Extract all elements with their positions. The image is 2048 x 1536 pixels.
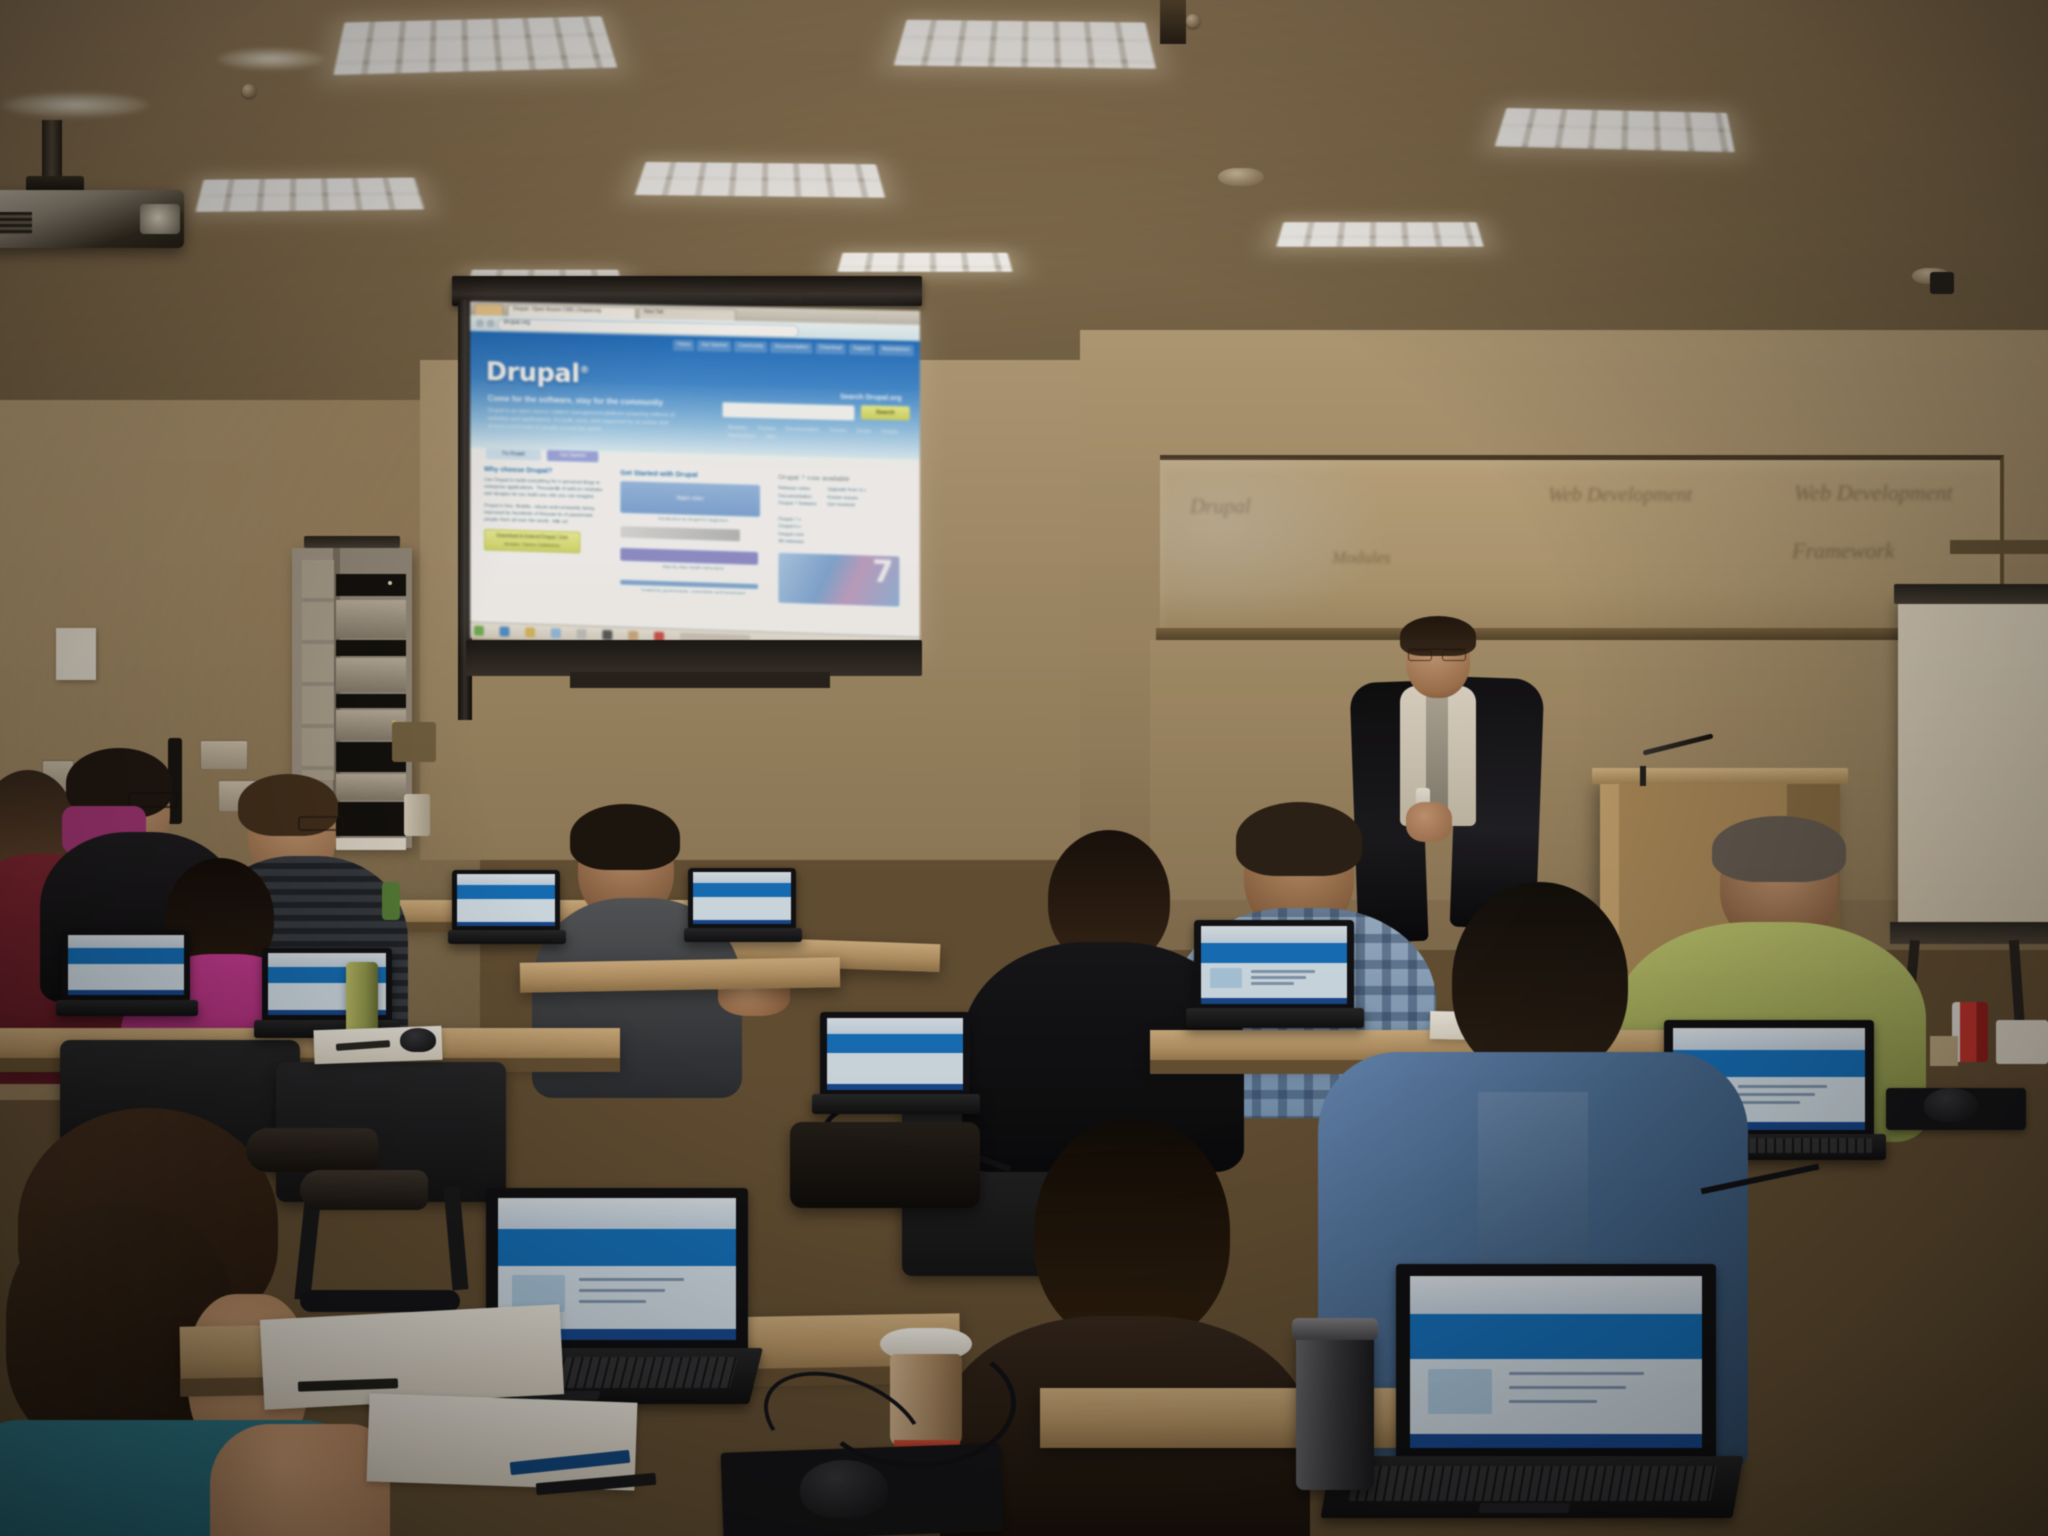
- search-input[interactable]: [722, 402, 855, 421]
- screen-text-line: [1509, 1400, 1597, 1403]
- shoe: [246, 1128, 378, 1172]
- attendee-hair: [1712, 816, 1846, 882]
- screen-titlebar: [1410, 1276, 1702, 1314]
- hand-sanitizer-dispenser: [404, 794, 430, 836]
- hero-secondary-button[interactable]: Get Started: [547, 450, 598, 462]
- ceiling-light-fixture: [635, 162, 886, 198]
- wall-fixture: [392, 722, 436, 762]
- nav-item-download[interactable]: Download: [816, 343, 847, 355]
- screen-content: [68, 964, 184, 990]
- shoe: [300, 1170, 428, 1210]
- ceiling-light-fixture: [1495, 108, 1735, 152]
- screen-text-line: [1509, 1372, 1643, 1375]
- screen-titlebar: [498, 1198, 736, 1229]
- ceiling-light-fixture: [195, 178, 424, 212]
- nav-item-marketplace[interactable]: Marketplace: [878, 344, 914, 356]
- content-column-drupal7: Drupal 7 now available Release notes Doc…: [778, 474, 909, 606]
- microphone-stem: [1640, 766, 1646, 786]
- address-bar-value: drupal.org: [504, 320, 531, 327]
- posted-notice: [56, 628, 96, 680]
- terminal-icon[interactable]: [602, 630, 612, 640]
- rack-slot: [336, 640, 406, 656]
- wall-rail: [1950, 540, 2048, 554]
- drupal-logo-text: Drupal: [486, 357, 580, 389]
- browser-tab-label: New Tab: [644, 309, 663, 315]
- column-paragraph: Drupal is free, flexible, robust and con…: [484, 503, 607, 528]
- screen-text-line: [1251, 982, 1295, 985]
- rack-slot: [336, 694, 406, 708]
- laptop-keyboard[interactable]: [1348, 1466, 1717, 1501]
- screen-navbar: [1201, 943, 1347, 963]
- ceiling-light-reflection: [0, 92, 150, 118]
- attendee-head: [1034, 1118, 1230, 1344]
- whiteboard-note: Framework: [1792, 538, 1895, 564]
- screen-navbar: [693, 883, 791, 897]
- screen-card: [1210, 968, 1242, 988]
- partner-logos-strip: [620, 526, 740, 542]
- screen-navbar: [457, 885, 555, 899]
- download-extend-button[interactable]: Download & Extend Drupal Core Modules, T…: [484, 529, 581, 554]
- smoke-detector-icon: [1218, 168, 1264, 186]
- computer-mouse[interactable]: [400, 1028, 436, 1052]
- ceiling-hanger-rod: [1160, 0, 1186, 44]
- ceiling-light-fixture: [894, 20, 1156, 69]
- hero-body: Drupal is an open source content managem…: [488, 407, 676, 436]
- screen-text-line: [1509, 1386, 1626, 1389]
- download-button-label: Download & Extend Drupal Core: [496, 533, 567, 541]
- screen-text-line: [579, 1289, 665, 1292]
- screen-footer: [68, 990, 184, 995]
- laptop[interactable]: [820, 1012, 970, 1112]
- screen-navbar: [498, 1229, 736, 1266]
- screen-titlebar: [1201, 926, 1347, 943]
- column-heading-main: Drupal 7: [778, 474, 805, 482]
- water-bottle-small-green[interactable]: [382, 882, 400, 920]
- screen-footer: [1410, 1434, 1702, 1448]
- rack-slot: [336, 574, 406, 596]
- whiteboard-note: Web Development: [1548, 484, 1692, 507]
- flip-chart-clamp: [1894, 584, 2048, 604]
- content-column-get-started: Get Started with Drupal Watch video Intr…: [620, 470, 766, 596]
- status-led-icon: [388, 581, 392, 585]
- quick-link[interactable]: Issues: [856, 428, 871, 434]
- paper-handout: [367, 1393, 638, 1490]
- screen-content: [827, 1053, 963, 1085]
- fire-sprinkler-icon: [242, 84, 256, 98]
- screen-footer: [457, 922, 555, 926]
- projection-screen-bottom-bar: [466, 640, 922, 676]
- table-mid-center: [520, 957, 840, 993]
- quick-link[interactable]: Forums: [829, 428, 846, 434]
- nav-item-support[interactable]: Support: [849, 344, 875, 356]
- projector-lens-icon: [140, 204, 180, 234]
- rack-device-panel: [336, 600, 406, 638]
- intro-video-thumbnail[interactable]: Watch video: [620, 481, 760, 517]
- whiteboard-glare: [1160, 458, 1390, 633]
- desk-item: [1930, 1036, 1958, 1066]
- quick-link[interactable]: Jobs: [765, 434, 776, 440]
- screen-card: [1428, 1369, 1492, 1414]
- attendee-center-foreground: [960, 1118, 1290, 1536]
- start-icon[interactable]: [474, 626, 484, 636]
- travel-mug[interactable]: [1296, 1328, 1374, 1490]
- screen-footer: [1201, 998, 1347, 1004]
- screen-text-line: [1251, 976, 1306, 979]
- screen-content: [693, 897, 791, 920]
- drupal7-link[interactable]: Drupal 7 features: [778, 500, 817, 509]
- wall-speaker-icon: [1930, 272, 1954, 294]
- quick-link[interactable]: Marketplace: [728, 433, 755, 440]
- laptop[interactable]: [1396, 1264, 1726, 1514]
- laptop-base: [56, 1000, 198, 1016]
- laptop-base: [684, 928, 802, 942]
- laptop-trackpad[interactable]: [1478, 1503, 1570, 1513]
- whiteboard-note: Web Development: [1794, 480, 1953, 506]
- column-heading-sub: now available: [807, 475, 850, 483]
- laptop-screen[interactable]: [68, 935, 184, 995]
- laptop-base: [812, 1094, 980, 1114]
- eyeglasses-icon: [1408, 648, 1466, 660]
- laptop[interactable]: [452, 870, 560, 942]
- screen-text-line: [1738, 1093, 1815, 1096]
- screen-titlebar: [457, 874, 555, 885]
- computer-mouse[interactable]: [1924, 1088, 1978, 1122]
- laptop-base: [448, 930, 566, 944]
- quick-link[interactable]: Themes: [757, 426, 775, 432]
- folder-icon[interactable]: [525, 627, 535, 637]
- screen-text-line: [579, 1278, 684, 1281]
- laptop-screen[interactable]: [1410, 1276, 1702, 1448]
- screen-text-line: [1738, 1085, 1826, 1088]
- attendee-head: [1452, 882, 1628, 1078]
- screen-footer: [827, 1084, 963, 1090]
- attendee-shoulder: [210, 1424, 390, 1536]
- search-button[interactable]: Search: [861, 405, 910, 420]
- screen-titlebar: [693, 872, 791, 883]
- projector-vent: [0, 212, 32, 234]
- column-paragraph: Use Drupal to build everything from pers…: [484, 477, 607, 501]
- drupal7-link[interactable]: Get involved: [827, 502, 866, 511]
- nav-item-get-started[interactable]: Get Started: [697, 340, 731, 352]
- laptop-screen[interactable]: [693, 872, 791, 924]
- browser-icon[interactable]: [500, 626, 510, 636]
- projection-screen-weight-bar: [570, 672, 830, 688]
- laptop-screen[interactable]: [457, 874, 555, 926]
- rack-device-panel: [336, 658, 406, 692]
- backpack: [790, 1122, 980, 1208]
- flip-chart-leg: [2009, 940, 2025, 1030]
- screen-titlebar: [68, 935, 184, 948]
- screen-titlebar: [827, 1018, 963, 1034]
- laptop-screen[interactable]: [1201, 926, 1347, 1004]
- ceiling-light-fixture: [837, 253, 1012, 272]
- ceiling-light-fixture: [333, 16, 617, 75]
- drupal-logo-mark: ®: [580, 365, 589, 376]
- content-column-why-drupal: Why choose Drupal? Use Drupal to build e…: [484, 466, 607, 554]
- projector-mount: [42, 120, 62, 182]
- nav-item-community[interactable]: Community: [734, 341, 767, 353]
- projection-screen: Drupal - Open Source CMS | Drupal.org Ne…: [470, 301, 920, 654]
- video-play-label: Watch video: [620, 481, 760, 517]
- ceiling-projector: [0, 120, 190, 255]
- screen-content: [457, 899, 555, 922]
- quick-link[interactable]: Modules: [728, 425, 747, 432]
- hero-primary-button[interactable]: Try Drupal: [486, 448, 541, 460]
- podium-top: [1592, 768, 1848, 784]
- laptop[interactable]: [688, 868, 796, 940]
- quick-link[interactable]: Documentation: [785, 426, 819, 433]
- ceiling-light-reflection: [216, 48, 326, 70]
- back-arrow-icon[interactable]: [476, 319, 484, 327]
- ceiling-light-fixture: [1276, 222, 1484, 247]
- travel-mug-lid: [1292, 1318, 1378, 1340]
- laptop-screen[interactable]: [827, 1018, 963, 1090]
- screen-text-line: [1251, 970, 1315, 973]
- eyeglasses-icon: [298, 816, 344, 831]
- nav-item-home[interactable]: Home: [673, 340, 694, 351]
- rack-top-handle: [304, 536, 400, 548]
- attendee-hair: [570, 804, 680, 870]
- paper-stack: [1996, 1020, 2048, 1064]
- screen-navbar: [68, 948, 184, 964]
- screen-navbar: [827, 1034, 963, 1053]
- screen-text-line: [579, 1300, 646, 1303]
- promo-version-number: 7: [872, 557, 893, 588]
- rack-side-labels: [302, 560, 334, 780]
- forward-arrow-icon[interactable]: [487, 319, 495, 327]
- laptop-base: [1321, 1456, 1744, 1518]
- mail-icon[interactable]: [551, 628, 561, 638]
- gooseneck-microphone: [1640, 742, 1716, 772]
- laptop[interactable]: [62, 930, 190, 1014]
- screen-text-line: [1738, 1101, 1799, 1104]
- editor-icon[interactable]: [577, 629, 587, 639]
- classroom-photo: Drupal Modules Web Development Web Devel…: [0, 0, 2048, 1536]
- search-label: Search Drupal.org: [840, 394, 901, 403]
- drupal7-promo-banner[interactable]: 7: [778, 552, 899, 606]
- quick-link[interactable]: Groups: [881, 429, 898, 435]
- attendee-hair: [1236, 802, 1362, 876]
- screen-navbar: [1410, 1314, 1702, 1359]
- drupal-logo[interactable]: Drupal®: [486, 357, 589, 389]
- download-button-sub: Modules, Themes, Distributions: [505, 541, 560, 548]
- nav-item-documentation[interactable]: Documentation: [771, 342, 813, 354]
- fire-sprinkler-icon: [1186, 14, 1200, 28]
- screen-footer: [693, 920, 791, 924]
